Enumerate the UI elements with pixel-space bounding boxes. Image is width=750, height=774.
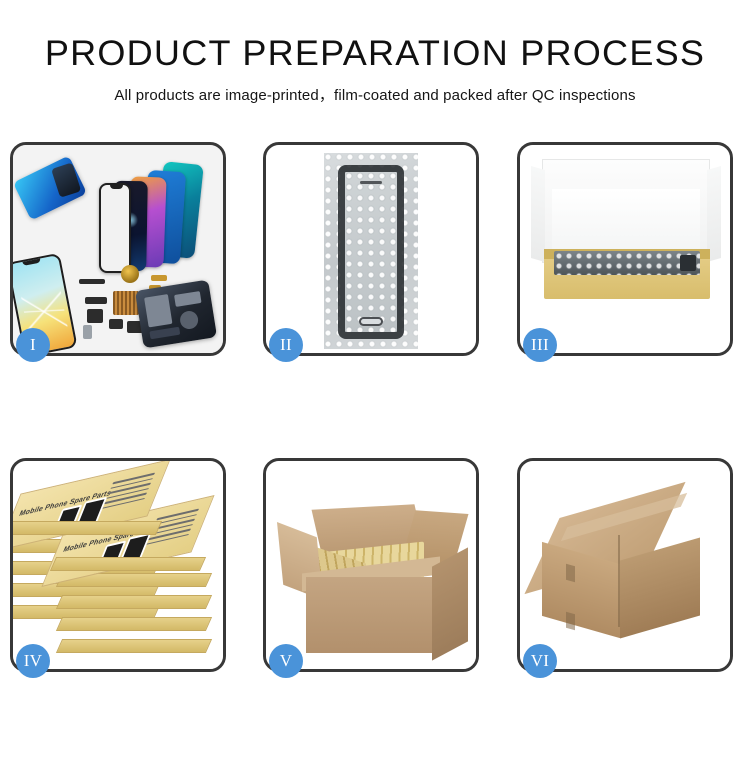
phone-screen-fan: [97, 161, 217, 271]
box-stack: Mobile Phone Spare Parts Mobile Phone Sp…: [13, 461, 223, 669]
packed-screen-icon: [554, 251, 700, 275]
home-button-icon: [359, 317, 383, 326]
earpiece-icon: [360, 181, 382, 184]
carton-seam-icon: [566, 612, 575, 631]
panel-image-bubble-wrap: [266, 145, 476, 353]
bracket-part-icon: [85, 297, 107, 304]
step-badge-6: VI: [523, 644, 557, 678]
foam-insert-icon: [552, 189, 700, 251]
phone-internals-icon: [135, 280, 217, 349]
panel-image-carton-sealed: [520, 461, 730, 669]
panel-product-range[interactable]: [10, 142, 226, 356]
panel-carton-filled[interactable]: [263, 458, 479, 672]
frame-icon: [149, 327, 180, 340]
panel-boxes-stacked[interactable]: Mobile Phone Spare Parts Mobile Phone Sp…: [10, 458, 226, 672]
small-bracket-icon: [87, 309, 103, 323]
process-grid: I II III: [10, 142, 740, 774]
button-part-icon: [109, 319, 123, 329]
step-badge-1: I: [16, 328, 50, 362]
taptic-icon: [179, 310, 200, 331]
process-row-bottom: Mobile Phone Spare Parts Mobile Phone Sp…: [10, 458, 740, 678]
battery-icon: [144, 294, 172, 327]
panel-inner-box[interactable]: [517, 142, 733, 356]
page-title: PRODUCT PREPARATION PROCESS: [0, 0, 750, 73]
page-subtitle: All products are image-printed，film-coat…: [0, 73, 750, 105]
wrapped-screen-icon: [338, 165, 404, 339]
box-edge: [56, 617, 212, 631]
logic-board-icon: [174, 291, 202, 307]
printed-box-edge: [50, 557, 206, 571]
gold-connector-icon: [151, 275, 167, 281]
carton-body-icon: [306, 577, 434, 653]
coil-part-icon: [121, 265, 139, 283]
box-edge: [56, 595, 212, 609]
step-badge-5: V: [269, 644, 303, 678]
panel-image-boxes-stacked: Mobile Phone Spare Parts Mobile Phone Sp…: [13, 461, 223, 669]
box-spec-lines: [102, 473, 156, 511]
step-badge-2: II: [269, 328, 303, 362]
flex-cable-icon: [79, 279, 105, 284]
step-badge-4: IV: [16, 644, 50, 678]
process-row-top: I II III: [10, 142, 740, 362]
panel-image-carton-filled: [266, 461, 476, 669]
box-edge: [56, 639, 212, 653]
panel-bubble-wrap[interactable]: [263, 142, 479, 356]
panel-carton-sealed[interactable]: [517, 458, 733, 672]
carton-seam-icon: [566, 564, 575, 583]
page-header: PRODUCT PREPARATION PROCESS All products…: [0, 0, 750, 105]
step-badge-3: III: [523, 328, 557, 362]
panel-image-product-range: [13, 145, 223, 353]
carton-corner-edge: [618, 535, 620, 627]
bubble-wrap-sheet-icon: [324, 153, 418, 349]
sim-tray-icon: [83, 325, 92, 339]
printed-box-edge: [13, 521, 162, 535]
phone-screen-white-icon: [99, 183, 131, 273]
panel-image-inner-box: [520, 145, 730, 353]
